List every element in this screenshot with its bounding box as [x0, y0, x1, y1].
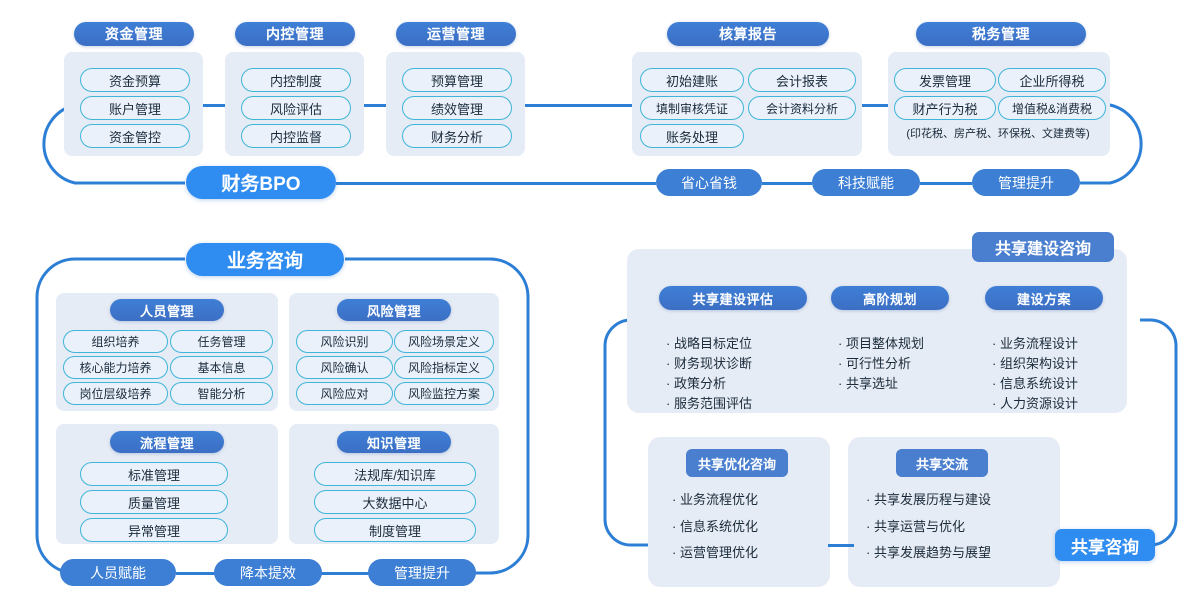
- option-label: 风险场景定义: [408, 333, 480, 350]
- option-chip[interactable]: 绩效管理: [402, 96, 512, 120]
- bullet-item: · 共享发展历程与建设: [866, 487, 991, 514]
- option-chip[interactable]: 大数据中心: [314, 490, 476, 514]
- option-label: 风险识别: [320, 333, 368, 350]
- benefit-label: 管理提升: [998, 173, 1054, 193]
- connector-benefit-1: [336, 182, 656, 185]
- connector-br-1: [828, 544, 854, 547]
- option-chip[interactable]: 账户管理: [80, 96, 190, 120]
- option-label: 风险确认: [320, 359, 368, 376]
- group-header-label: 内控管理: [266, 24, 324, 44]
- group-header-risk[interactable]: 风险管理: [337, 299, 451, 321]
- option-chip[interactable]: 资金管控: [80, 124, 190, 148]
- option-chip[interactable]: 组织培养: [63, 330, 168, 353]
- group-header-internal-control[interactable]: 内控管理: [235, 22, 355, 46]
- option-chip[interactable]: 法规库/知识库: [314, 462, 476, 486]
- option-label: 岗位层级培养: [79, 385, 151, 402]
- option-label: 资金预算: [109, 71, 161, 90]
- column-header-label: 共享建设评估: [692, 289, 773, 308]
- connector-top-3: [514, 104, 636, 107]
- option-chip[interactable]: 核心能力培养: [63, 356, 168, 379]
- bullet-item: · 服务范围评估: [666, 394, 752, 414]
- benefit-pill-mgmt[interactable]: 管理提升: [972, 169, 1080, 196]
- connector-benefit-3: [920, 182, 972, 185]
- option-chip[interactable]: 资金预算: [80, 68, 190, 92]
- option-chip[interactable]: 会计资料分析: [748, 96, 856, 120]
- option-chip[interactable]: 风险应对: [296, 382, 393, 405]
- card-title-shared-exchange[interactable]: 共享交流: [896, 449, 988, 477]
- section-title-shared-consulting[interactable]: 共享咨询: [1055, 529, 1155, 561]
- bullet-item: · 项目整体规划: [838, 334, 924, 354]
- option-label: 初始建账: [666, 71, 718, 90]
- bullet-item: · 共享发展趋势与展望: [866, 540, 991, 567]
- panel-title-shared-build[interactable]: 共享建设咨询: [972, 232, 1114, 262]
- option-label: 绩效管理: [431, 99, 483, 118]
- option-label: 组织培养: [91, 333, 139, 350]
- section-title-label: 共享咨询: [1071, 533, 1139, 558]
- group-header-label: 税务管理: [972, 24, 1030, 44]
- column-header-high-level-planning[interactable]: 高阶规划: [831, 286, 949, 310]
- bullet-item: · 财务现状诊断: [666, 354, 752, 374]
- group-header-accounting[interactable]: 核算报告: [667, 22, 829, 46]
- bullet-item: · 业务流程设计: [992, 334, 1078, 354]
- option-chip[interactable]: 预算管理: [402, 68, 512, 92]
- card-title-shared-optimize[interactable]: 共享优化咨询: [686, 449, 788, 477]
- option-label: 资金管控: [109, 127, 161, 146]
- option-chip[interactable]: 任务管理: [170, 330, 273, 353]
- bullet-list-shared-assessment: · 战略目标定位 · 财务现状诊断 · 政策分析 · 服务范围评估: [666, 334, 752, 415]
- section-title-finance-bpo[interactable]: 财务BPO: [186, 166, 336, 199]
- option-label: 会计报表: [776, 71, 828, 90]
- benefit-label: 科技赋能: [838, 173, 894, 193]
- benefit-pill-tech[interactable]: 科技赋能: [812, 169, 920, 196]
- bullet-list-shared-exchange: · 共享发展历程与建设 · 共享运营与优化 · 共享发展趋势与展望: [866, 487, 991, 567]
- section-title-label: 业务咨询: [227, 246, 303, 273]
- option-chip[interactable]: 内控制度: [241, 68, 351, 92]
- benefit-label: 管理提升: [394, 563, 450, 583]
- column-header-build-plan[interactable]: 建设方案: [985, 286, 1103, 310]
- benefit-pill-cost[interactable]: 降本提效: [214, 559, 322, 586]
- column-header-shared-assessment[interactable]: 共享建设评估: [659, 286, 807, 310]
- connector-benefit-2: [762, 182, 812, 185]
- group-header-process[interactable]: 流程管理: [110, 431, 224, 453]
- option-chip[interactable]: 内控监督: [241, 124, 351, 148]
- group-header-knowledge[interactable]: 知识管理: [337, 431, 451, 453]
- option-chip[interactable]: 风险场景定义: [394, 330, 494, 353]
- bullet-item: · 运营管理优化: [672, 540, 758, 567]
- option-chip[interactable]: 标准管理: [80, 462, 228, 486]
- option-chip[interactable]: 智能分析: [170, 382, 273, 405]
- option-chip[interactable]: 基本信息: [170, 356, 273, 379]
- option-label: 基本信息: [197, 359, 245, 376]
- bullet-item: · 战略目标定位: [666, 334, 752, 354]
- option-label: 智能分析: [197, 385, 245, 402]
- option-label: 制度管理: [369, 521, 421, 540]
- section-title-business-consulting[interactable]: 业务咨询: [186, 243, 344, 276]
- bullet-item: · 组织架构设计: [992, 354, 1078, 374]
- option-label: 风险指标定义: [408, 359, 480, 376]
- bullet-list-high-level-planning: · 项目整体规划 · 可行性分析 · 共享选址: [838, 334, 924, 394]
- option-chip[interactable]: 发票管理: [894, 68, 996, 92]
- group-header-personnel[interactable]: 人员管理: [110, 299, 224, 321]
- option-label: 质量管理: [128, 493, 180, 512]
- option-label: 发票管理: [919, 71, 971, 90]
- benefit-pill-empower[interactable]: 人员赋能: [60, 559, 176, 586]
- option-chip[interactable]: 岗位层级培养: [63, 382, 168, 405]
- benefit-label: 人员赋能: [90, 563, 146, 583]
- group-header-operations[interactable]: 运营管理: [396, 22, 516, 46]
- bullet-list-build-plan: · 业务流程设计 · 组织架构设计 · 信息系统设计 · 人力资源设计: [992, 334, 1078, 415]
- group-header-label: 运营管理: [427, 24, 485, 44]
- option-label: 填制审核凭证: [656, 100, 728, 117]
- option-chip[interactable]: 会计报表: [748, 68, 856, 92]
- option-label: 法规库/知识库: [354, 465, 436, 484]
- option-label: 账户管理: [109, 99, 161, 118]
- option-label: 核心能力培养: [79, 359, 151, 376]
- group-header-label: 风险管理: [367, 301, 421, 320]
- bullet-item: · 政策分析: [666, 374, 752, 394]
- group-header-label: 知识管理: [367, 433, 421, 452]
- bullet-item: · 信息系统优化: [672, 514, 758, 541]
- group-header-label: 核算报告: [719, 24, 777, 44]
- group-header-label: 资金管理: [105, 24, 163, 44]
- bullet-item: · 信息系统设计: [992, 374, 1078, 394]
- benefit-pill-mgmt-2[interactable]: 管理提升: [368, 559, 476, 586]
- option-chip[interactable]: 增值税&消费税: [998, 96, 1106, 120]
- option-chip[interactable]: 异常管理: [80, 518, 228, 542]
- option-chip[interactable]: 填制审核凭证: [640, 96, 744, 120]
- option-label: 内控制度: [270, 71, 322, 90]
- card-title-label: 共享优化咨询: [698, 454, 776, 473]
- option-label: 财务分析: [431, 127, 483, 146]
- benefit-label: 省心省钱: [681, 173, 737, 193]
- option-chip[interactable]: 质量管理: [80, 490, 228, 514]
- benefit-label: 降本提效: [240, 563, 296, 583]
- group-header-label: 流程管理: [140, 433, 194, 452]
- bullet-item: · 人力资源设计: [992, 394, 1078, 414]
- bullet-list-shared-optimize: · 业务流程优化 · 信息系统优化 · 运营管理优化: [672, 487, 758, 567]
- option-label: 财产行为税: [912, 99, 977, 118]
- option-label: 异常管理: [128, 521, 180, 540]
- card-title-label: 共享交流: [916, 454, 968, 473]
- group-header-tax[interactable]: 税务管理: [916, 22, 1086, 46]
- option-label: 风险评估: [270, 99, 322, 118]
- option-label: 增值税&消费税: [1012, 100, 1092, 117]
- option-chip[interactable]: 制度管理: [314, 518, 476, 542]
- option-chip[interactable]: 风险识别: [296, 330, 393, 353]
- section-title-label: 财务BPO: [221, 169, 300, 196]
- connector-bl-2: [318, 572, 370, 575]
- option-label: 任务管理: [197, 333, 245, 350]
- column-header-label: 高阶规划: [863, 289, 917, 308]
- option-label: 风险监控方案: [408, 385, 480, 402]
- option-label: 账务处理: [666, 127, 718, 146]
- benefit-pill-save[interactable]: 省心省钱: [656, 169, 762, 196]
- option-chip[interactable]: 风险评估: [241, 96, 351, 120]
- option-chip[interactable]: 风险监控方案: [394, 382, 494, 405]
- bullet-item: · 可行性分析: [838, 354, 924, 374]
- tax-note: (印花税、房产税、环保税、文建费等): [898, 125, 1098, 141]
- option-chip[interactable]: 初始建账: [640, 68, 744, 92]
- bullet-item: · 业务流程优化: [672, 487, 758, 514]
- panel-title-label: 共享建设咨询: [995, 235, 1091, 259]
- option-label: 风险应对: [320, 385, 368, 402]
- option-label: 会计资料分析: [766, 100, 838, 117]
- option-label: 大数据中心: [362, 493, 427, 512]
- column-header-label: 建设方案: [1017, 289, 1071, 308]
- bullet-item: · 共享运营与优化: [866, 514, 991, 541]
- option-chip[interactable]: 财产行为税: [894, 96, 996, 120]
- option-chip[interactable]: 风险确认: [296, 356, 393, 379]
- bullet-item: · 共享选址: [838, 374, 924, 394]
- group-header-funds[interactable]: 资金管理: [74, 22, 194, 46]
- option-chip[interactable]: 风险指标定义: [394, 356, 494, 379]
- option-chip[interactable]: 企业所得税: [998, 68, 1106, 92]
- option-label: 企业所得税: [1019, 71, 1084, 90]
- option-label: 标准管理: [128, 465, 180, 484]
- group-header-label: 人员管理: [140, 301, 194, 320]
- diagram-canvas: 资金管理 资金预算 账户管理 资金管控 内控管理 内控制度 风险评估 内控监督 …: [0, 0, 1179, 594]
- option-label: 预算管理: [431, 71, 483, 90]
- option-label: 内控监督: [270, 127, 322, 146]
- option-chip[interactable]: 账务处理: [640, 124, 744, 148]
- option-chip[interactable]: 财务分析: [402, 124, 512, 148]
